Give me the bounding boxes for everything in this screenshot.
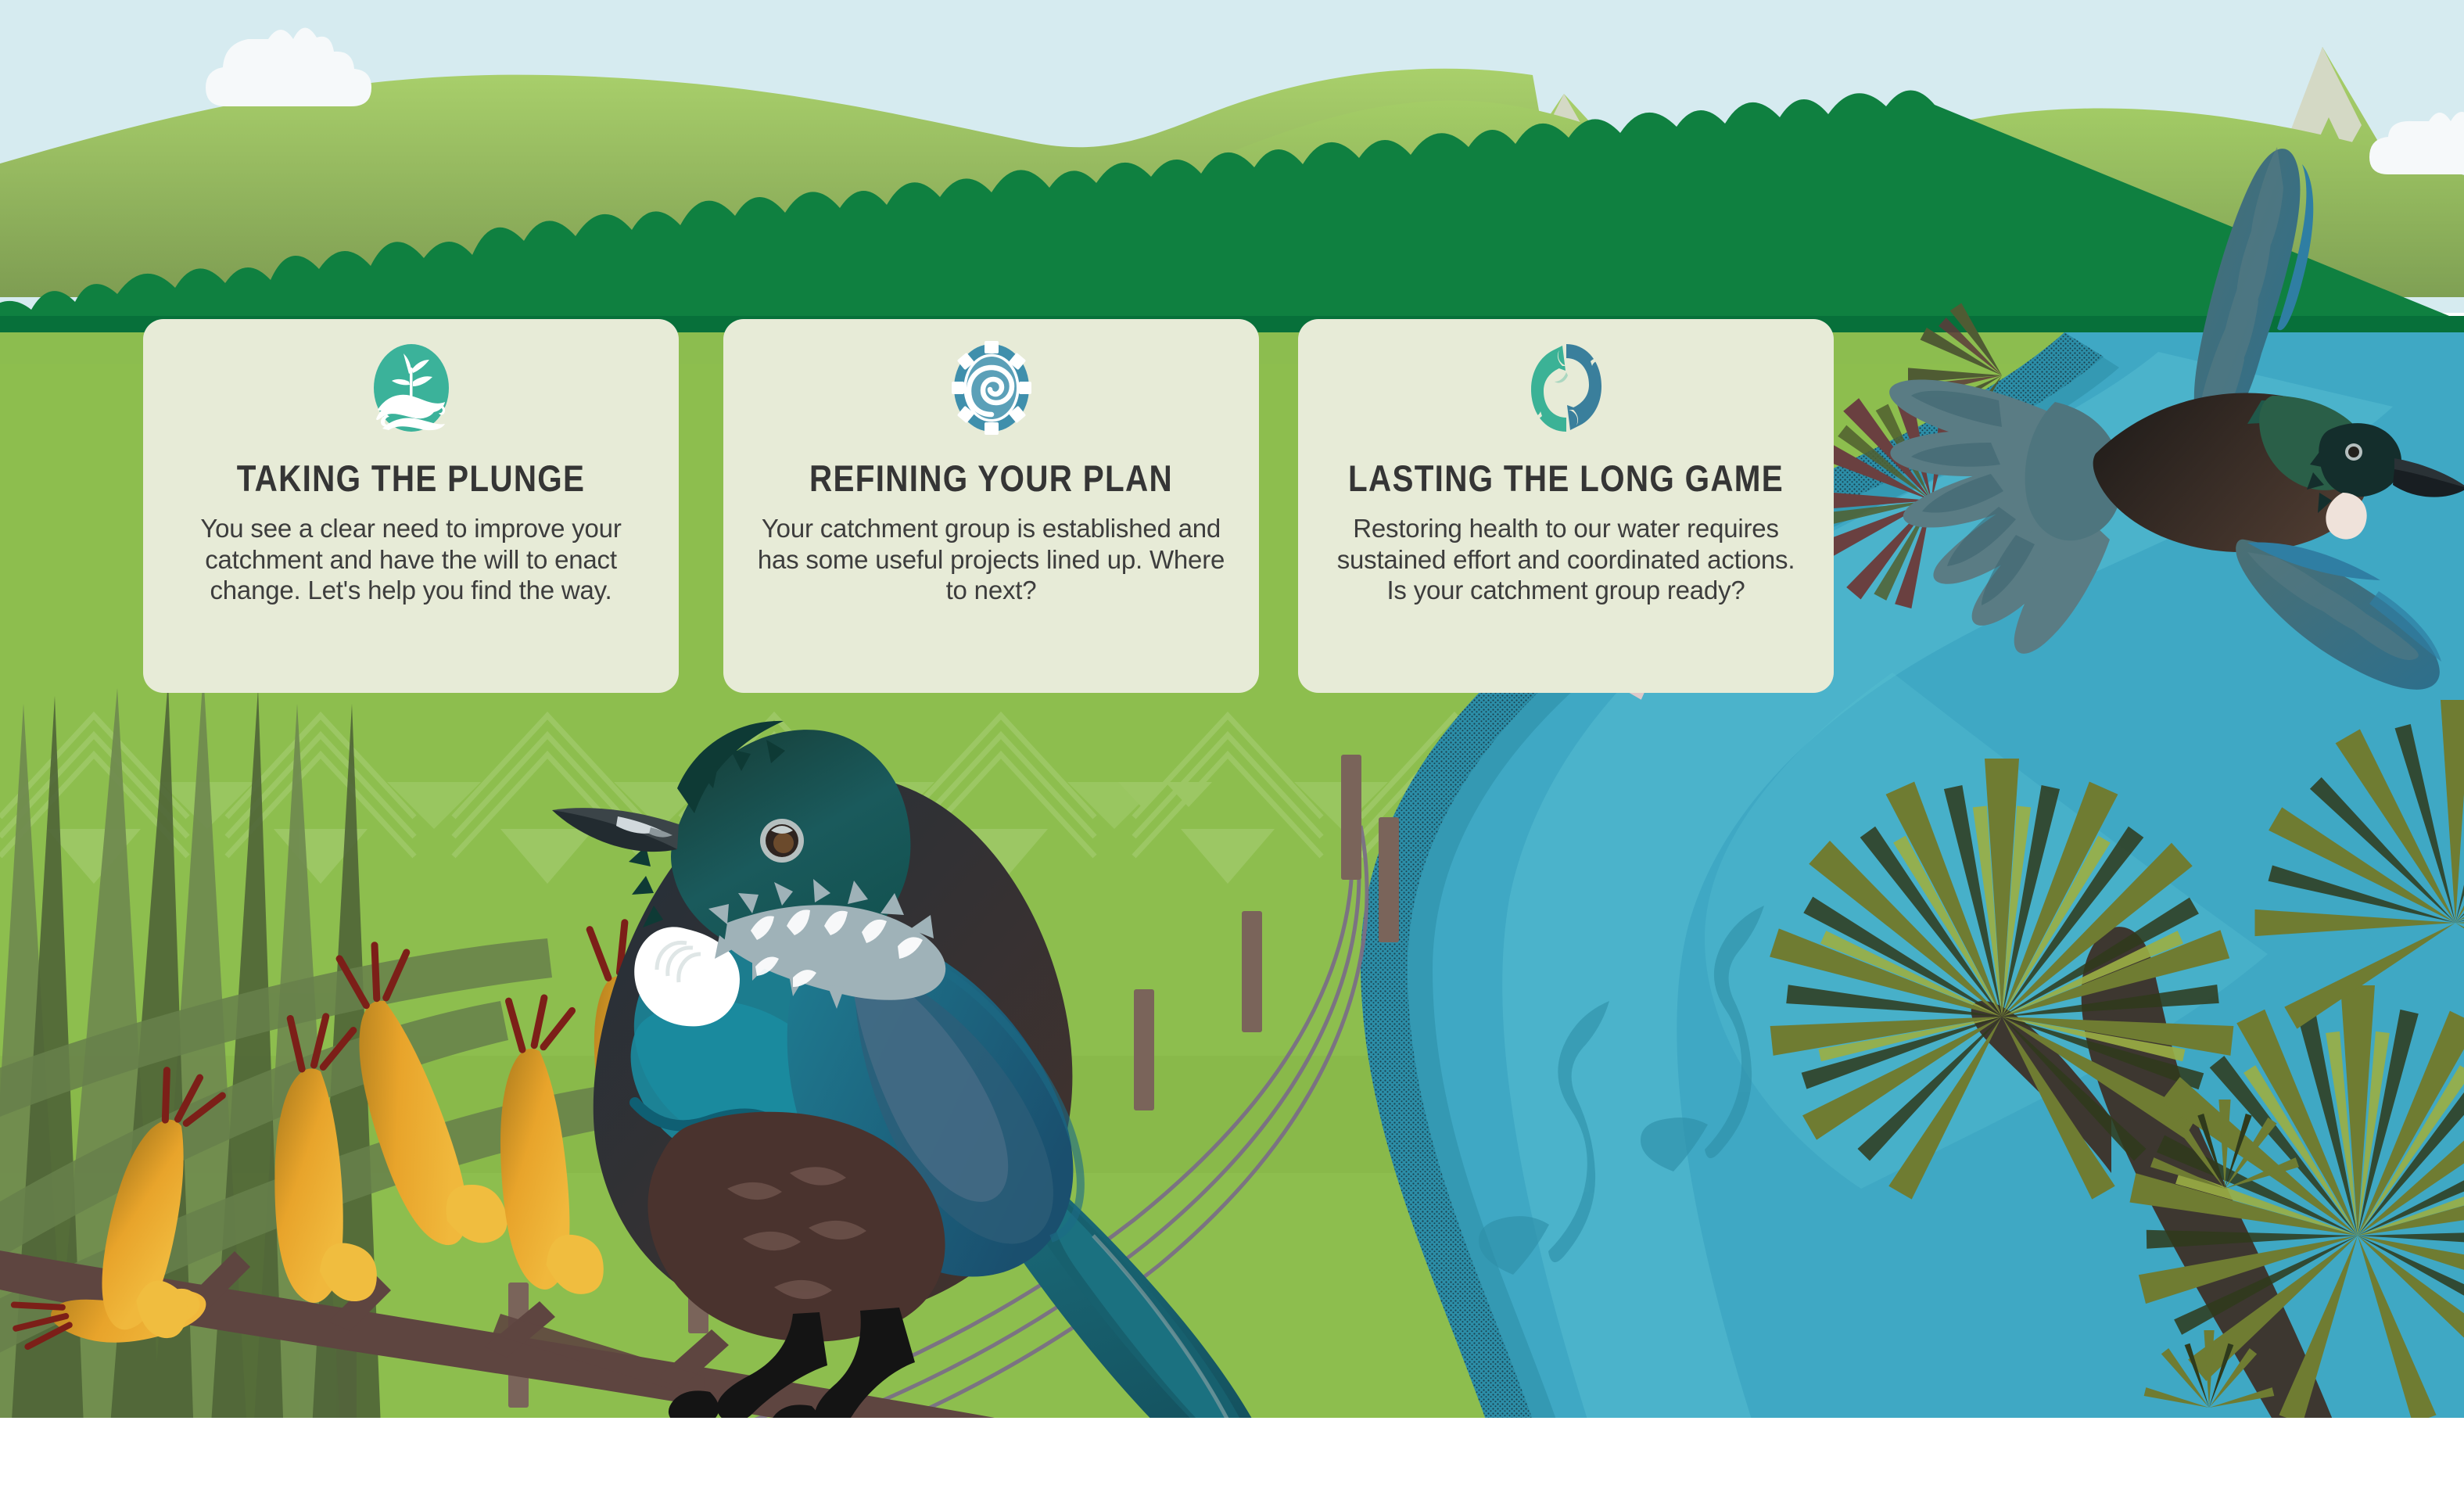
card-body: Restoring health to our water requires s… <box>1325 513 1807 606</box>
card-title: LASTING THE LONG GAME <box>1336 457 1796 500</box>
card-title: REFINING YOUR PLAN <box>761 457 1221 500</box>
card-refining-your-plan[interactable]: REFINING YOUR PLAN Your catchment group … <box>723 319 1259 693</box>
card-title: TAKING THE PLUNGE <box>181 457 641 500</box>
koru-recycle-cycle-icon <box>1523 338 1609 438</box>
illustration-canvas: TAKING THE PLUNGE You see a clear need t… <box>0 0 2464 1496</box>
card-lasting-the-long-game[interactable]: LASTING THE LONG GAME Restoring health t… <box>1298 319 1834 693</box>
landscape-scene <box>0 0 2464 1418</box>
card-body: Your catchment group is established and … <box>750 513 1232 606</box>
card-body: You see a clear need to improve your cat… <box>170 513 652 606</box>
scene-svg <box>0 0 2464 1496</box>
koru-spiral-gear-icon <box>949 338 1035 438</box>
seedling-water-icon <box>368 338 454 438</box>
card-taking-the-plunge[interactable]: TAKING THE PLUNGE You see a clear need t… <box>143 319 679 693</box>
